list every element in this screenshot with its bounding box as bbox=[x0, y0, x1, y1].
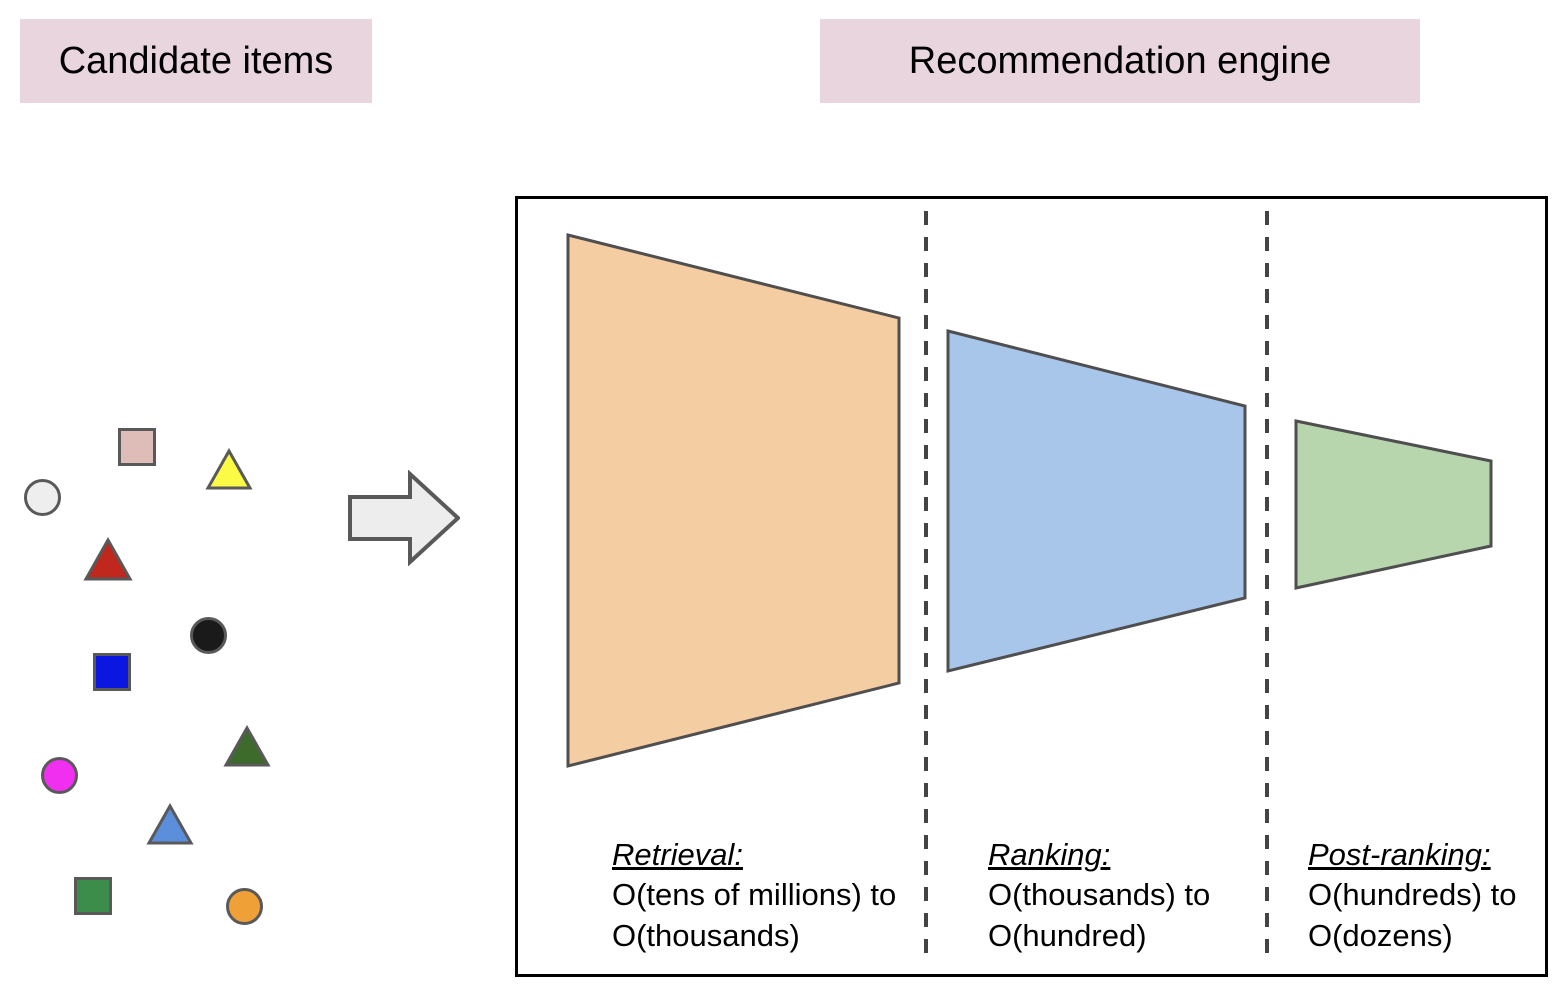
stage-title-post-ranking: Post-ranking: bbox=[1308, 835, 1517, 875]
stage-body-ranking-line2: O(hundred) bbox=[988, 916, 1210, 956]
candidate-items-header: Candidate items bbox=[20, 19, 372, 103]
green-square bbox=[74, 877, 112, 915]
stage-title-ranking: Ranking: bbox=[988, 835, 1210, 875]
stage-body-post-ranking-line2: O(dozens) bbox=[1308, 916, 1517, 956]
stage-body-retrieval-line2: O(thousands) bbox=[612, 916, 896, 956]
funnel-stage-post-ranking bbox=[1296, 421, 1491, 588]
funnel-stage-retrieval bbox=[568, 235, 899, 766]
stage-caption-ranking: Ranking: O(thousands) to O(hundred) bbox=[988, 835, 1210, 956]
stage-body-retrieval-line1: O(tens of millions) to bbox=[612, 875, 896, 915]
stage-body-post-ranking-line1: O(hundreds) to bbox=[1308, 875, 1517, 915]
flow-arrow-right-icon bbox=[348, 470, 460, 566]
pink-square bbox=[118, 428, 156, 466]
candidate-items-scatter bbox=[0, 140, 340, 840]
orange-circle bbox=[226, 888, 263, 925]
magenta-circle bbox=[41, 757, 78, 794]
stage-caption-retrieval: Retrieval: O(tens of millions) to O(thou… bbox=[612, 835, 896, 956]
stage-title-retrieval: Retrieval: bbox=[612, 835, 896, 875]
recommendation-engine-header: Recommendation engine bbox=[820, 19, 1420, 103]
white-circle bbox=[24, 479, 61, 516]
stage-body-ranking-line1: O(thousands) to bbox=[988, 875, 1210, 915]
blue-square bbox=[93, 653, 131, 691]
stage-caption-post-ranking: Post-ranking: O(hundreds) to O(dozens) bbox=[1308, 835, 1517, 956]
diagram-canvas: Candidate items Recommendation engine Re… bbox=[0, 0, 1568, 1000]
funnel-stage-ranking bbox=[948, 331, 1245, 671]
black-circle bbox=[190, 617, 227, 654]
